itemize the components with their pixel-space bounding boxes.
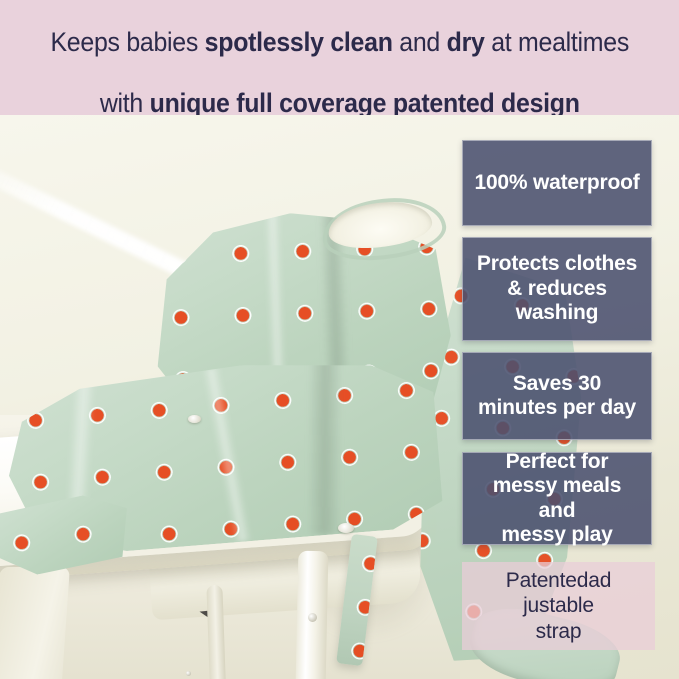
headline-seg-bold-a: spotlessly clean xyxy=(204,27,392,57)
headline-banner: Keeps babies spotlessly clean and dry at… xyxy=(0,0,679,115)
callout-saves-time-label: Saves 30 minutes per day xyxy=(478,372,636,421)
callout-protects-clothes-label: Protects clothes & reduces washing xyxy=(477,252,637,325)
callout-messy-meals[interactable]: Perfect for messy meals and messy play xyxy=(462,452,652,545)
callout-waterproof[interactable]: 100% waterproof xyxy=(462,140,652,226)
headline-seg-plain-c: at mealtimes xyxy=(484,27,628,57)
headline-line-1: Keeps babies spotlessly clean and dry at… xyxy=(50,27,629,57)
callout-adjustable-strap[interactable]: Patentedad justable strap xyxy=(462,562,655,650)
product-photo: 100% waterproof Protects clothes & reduc… xyxy=(0,115,679,679)
callout-waterproof-label: 100% waterproof xyxy=(474,171,639,195)
callout-adjustable-strap-label: Patentedad justable strap xyxy=(506,568,611,645)
headline-seg-plain-d: with xyxy=(100,88,150,118)
chair-leg-left xyxy=(0,567,70,679)
bib-snap-fastener xyxy=(188,415,201,423)
product-feature-image: Keeps babies spotlessly clean and dry at… xyxy=(0,0,679,679)
headline-seg-plain-a: Keeps babies xyxy=(50,27,204,57)
headline-text: Keeps babies spotlessly clean and dry at… xyxy=(50,0,629,118)
callout-saves-time[interactable]: Saves 30 minutes per day xyxy=(462,352,652,440)
headline-line-2: with unique full coverage patented desig… xyxy=(100,88,580,118)
callout-protects-clothes[interactable]: Protects clothes & reduces washing xyxy=(462,237,652,341)
callout-messy-meals-label: Perfect for messy meals and messy play xyxy=(473,450,641,547)
chair-screw-small xyxy=(186,671,191,676)
bib-snap-fastener xyxy=(338,523,354,533)
headline-seg-bold-b: dry xyxy=(446,27,484,57)
chair-screw xyxy=(308,613,317,622)
headline-seg-plain-b: and xyxy=(392,27,446,57)
headline-seg-bold-c: unique full coverage patented design xyxy=(149,88,579,118)
